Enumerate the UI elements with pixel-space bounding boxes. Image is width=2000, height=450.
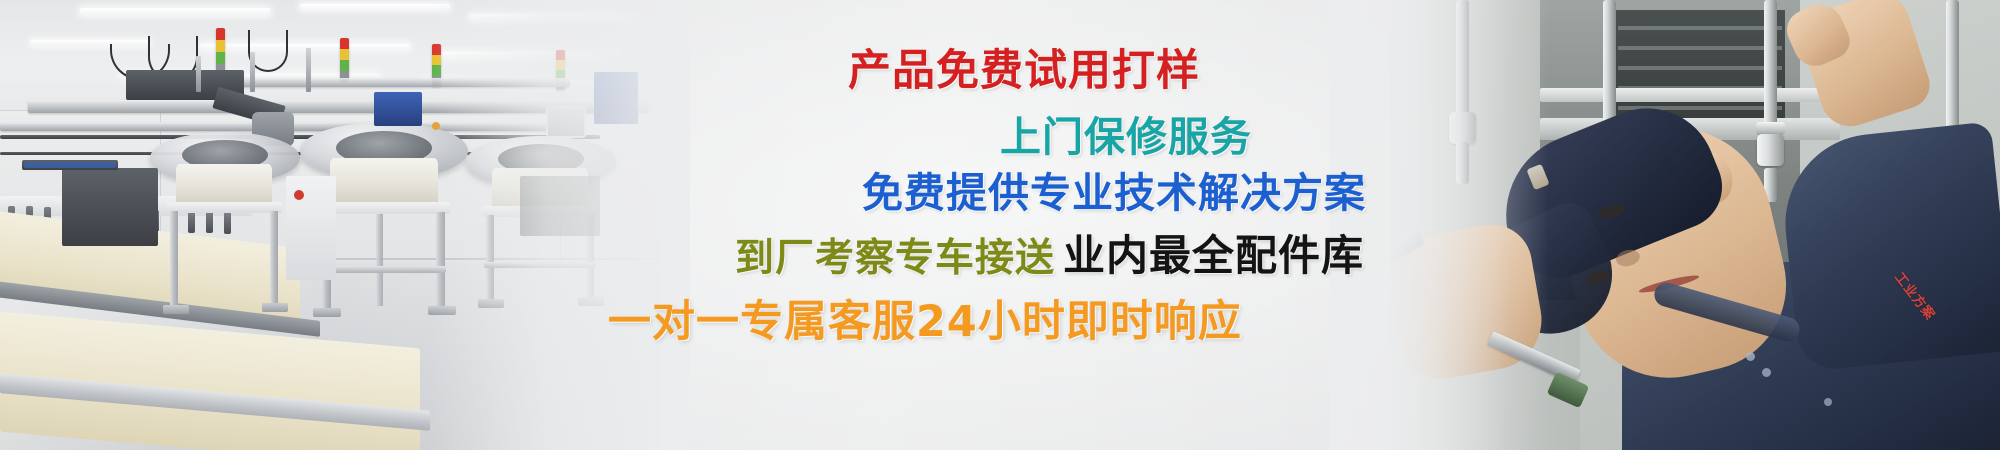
bowl-drive-drum — [330, 158, 438, 208]
dispense-nozzle — [306, 48, 311, 92]
message-largest-parts-library: 业内最全配件库 — [1063, 222, 1364, 283]
conveyor-clamp — [188, 211, 195, 233]
conveyor-clamp — [224, 212, 231, 234]
frame-foot — [163, 305, 189, 314]
dispense-nozzle — [250, 52, 255, 92]
blue-machine-module — [374, 92, 422, 126]
promo-banner: 工业方案 产品免费试用打样 上门保修服务 免费提供专业技术解决方案 到厂考察专车… — [0, 0, 2000, 450]
control-cabinet — [286, 176, 336, 280]
message-onsite-warranty: 上门保修服务 — [1000, 103, 1252, 163]
frame-foot — [313, 308, 341, 317]
frame-leg — [376, 214, 383, 306]
frame-leg — [170, 211, 178, 307]
frame-foot — [262, 303, 288, 312]
dispense-nozzle — [196, 56, 201, 92]
message-free-tech-solution: 免费提供专业技术解决方案 — [862, 159, 1366, 219]
message-one-on-one-support: 一对一专属客服24小时即时响应 — [608, 287, 1242, 349]
message-free-trial-sample: 产品免费试用打样 — [848, 36, 1200, 98]
frame-leg — [270, 211, 278, 305]
ceiling-lamp — [300, 4, 450, 10]
bowl-frame-top — [166, 202, 282, 213]
left-photo-fade — [430, 0, 690, 450]
ceiling-lamp — [80, 8, 270, 15]
conveyor-clamp — [206, 211, 213, 233]
signal-tower-icon — [340, 38, 349, 82]
message-factory-visit-shuttle: 到厂考察专车接送 — [735, 227, 1055, 283]
emergency-stop-button — [294, 190, 304, 200]
component-tray-blue — [24, 162, 116, 168]
cabinet-panel — [62, 168, 158, 246]
frame-crossbar — [320, 266, 446, 273]
ceiling-lamp — [200, 44, 410, 49]
signal-tower-icon — [216, 28, 225, 76]
